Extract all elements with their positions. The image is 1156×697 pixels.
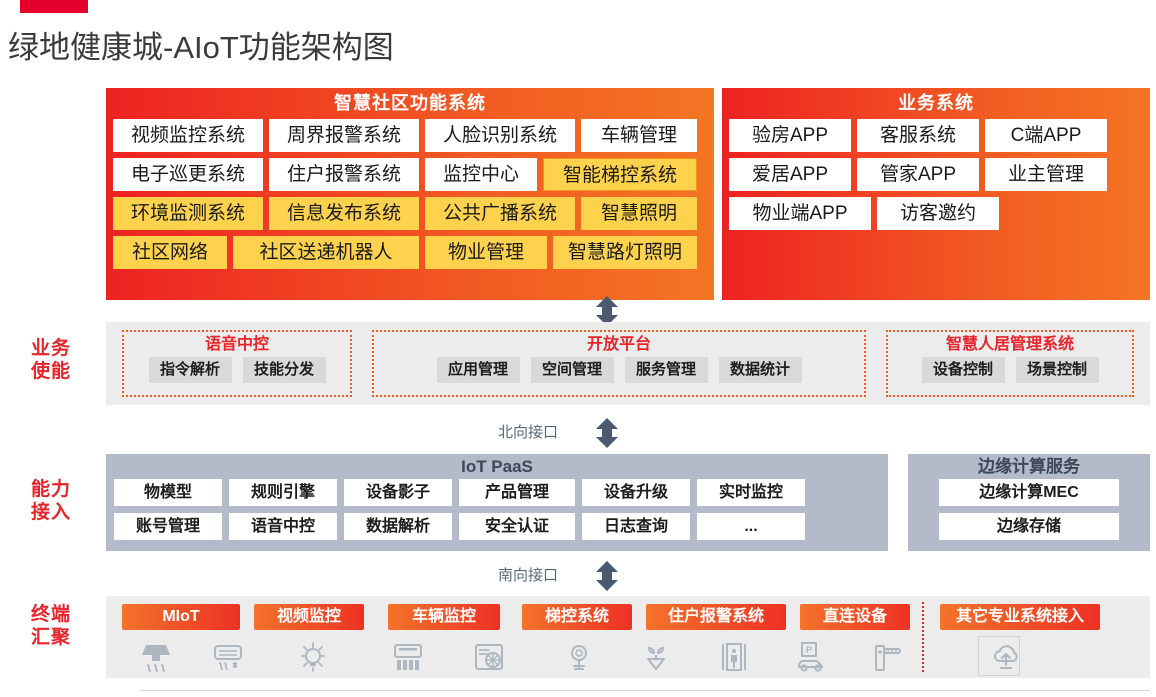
architecture-diagram: 绿地健康城-AIoT功能架构图 智慧社区功能系统 视频监控系统周界报警系统人脸识… [0,0,1156,697]
enablement-item[interactable]: 应用管理 [437,357,520,383]
terminal-group-chip[interactable]: MIoT [122,604,240,630]
enablement-item[interactable]: 数据统计 [719,357,802,383]
smart-community-item[interactable]: 智慧路灯照明 [553,236,697,269]
page-title: 绿地健康城-AIoT功能架构图 [8,22,394,67]
terminal-layer-label: 终端 汇聚 [22,603,80,649]
enablement-group-items: 设备控制场景控制 [912,357,1109,390]
iot-paas-item[interactable]: 设备升级 [582,479,690,506]
iot-paas-item[interactable]: ... [697,513,805,540]
air-conditioner-icon [212,641,244,673]
arrow-south-interface [594,561,620,591]
iot-paas-item[interactable]: 日志查询 [582,513,690,540]
svg-text:P: P [806,645,812,655]
enablement-layer-label: 业务 使能 [22,337,80,383]
smart-community-item[interactable]: 电子巡更系统 [113,158,263,191]
parking-car-icon: P [795,641,827,673]
top-red-marker [20,0,88,13]
capability-label-line2: 接入 [22,501,80,524]
edge-computing-item[interactable]: 边缘存储 [939,513,1119,540]
business-system-title: 业务系统 [722,88,1150,119]
cloud-upload-icon-frame [978,636,1020,676]
enablement-item[interactable]: 空间管理 [531,357,614,383]
smart-community-item[interactable]: 周界报警系统 [269,119,419,152]
enablement-item[interactable]: 技能分发 [243,357,326,383]
enablement-band: 语音中控指令解析技能分发开放平台应用管理空间管理服务管理数据统计智慧人居管理系统… [106,322,1150,405]
iot-paas-item[interactable]: 产品管理 [459,479,575,506]
edge-computing-row: 边缘计算MEC [908,479,1150,513]
smart-community-item[interactable]: 物业管理 [425,236,547,269]
business-system-item[interactable]: 爱居APP [729,158,851,191]
smart-community-item[interactable]: 环境监测系统 [113,197,263,230]
smart-community-item[interactable]: 车辆管理 [581,119,697,152]
enablement-group-items: 指令解析技能分发 [139,357,336,390]
business-system-rows: 验房APP客服系统C端APP爱居APP管家APP业主管理物业端APP访客邀约 [722,119,1150,243]
iot-paas-title: IoT PaaS [106,454,888,479]
business-system-item[interactable]: C端APP [985,119,1107,152]
iot-paas-item[interactable]: 语音中控 [229,513,337,540]
smart-community-panel: 智慧社区功能系统 视频监控系统周界报警系统人脸识别系统车辆管理电子巡更系统住户报… [106,88,714,300]
smart-community-item[interactable]: 信息发布系统 [269,197,419,230]
edge-computing-title: 边缘计算服务 [908,454,1150,479]
business-system-item[interactable]: 访客邀约 [877,197,999,230]
iot-paas-item[interactable]: 账号管理 [114,513,222,540]
enablement-group-title: 智慧人居管理系统 [946,332,1074,357]
business-system-panel: 业务系统 验房APP客服系统C端APP爱居APP管家APP业主管理物业端APP访… [722,88,1150,300]
business-system-row: 物业端APP访客邀约 [729,197,1143,230]
north-interface-label: 北向接口 [498,421,558,442]
enablement-group-title: 开放平台 [587,332,651,357]
smart-community-item[interactable]: 视频监控系统 [113,119,263,152]
smart-community-item[interactable]: 人脸识别系统 [425,119,575,152]
iot-paas-item[interactable]: 实时监控 [697,479,805,506]
smart-community-row: 环境监测系统信息发布系统公共广播系统智慧照明 [113,197,707,230]
smart-lamp-icon [563,641,595,673]
smart-community-item[interactable]: 住户报警系统 [269,158,419,191]
smart-community-row: 社区网络社区送递机器人物业管理智慧路灯照明 [113,236,707,269]
edge-computing-rows: 边缘计算MEC边缘存储 [908,479,1150,547]
business-system-item[interactable]: 物业端APP [729,197,871,230]
capability-label-line1: 能力 [22,478,80,501]
terminal-group-chip[interactable]: 车辆监控 [388,604,500,630]
smart-community-row: 视频监控系统周界报警系统人脸识别系统车辆管理 [113,119,707,152]
iot-paas-row: 账号管理语音中控数据解析安全认证日志查询... [106,513,888,547]
smart-community-item[interactable]: 智能梯控系统 [543,158,697,191]
iot-paas-item[interactable]: 规则引擎 [229,479,337,506]
light-bulb-icon [297,641,329,673]
enablement-item[interactable]: 场景控制 [1016,357,1099,383]
terminal-divider [922,602,924,672]
business-system-row: 爱居APP管家APP业主管理 [729,158,1143,191]
smoke-sensor-icon [640,641,672,673]
gate-barrier-icon [872,641,904,673]
smart-community-item[interactable]: 智慧照明 [581,197,697,230]
smart-community-item[interactable]: 社区网络 [113,236,227,269]
iot-paas-row: 物模型规则引擎设备影子产品管理设备升级实时监控 [106,479,888,513]
arrow-north-interface [594,418,620,448]
capability-layer-label: 能力 接入 [22,478,80,524]
iot-paas-item[interactable]: 安全认证 [459,513,575,540]
edge-computing-band: 边缘计算服务 边缘计算MEC边缘存储 [908,454,1150,551]
enablement-item[interactable]: 服务管理 [625,357,708,383]
terminal-group-chip[interactable]: 住户报警系统 [646,604,786,630]
business-system-row: 验房APP客服系统C端APP [729,119,1143,152]
terminal-group-chip[interactable]: 梯控系统 [522,604,632,630]
iot-paas-item[interactable]: 设备影子 [344,479,452,506]
enablement-group: 智慧人居管理系统设备控制场景控制 [886,330,1134,397]
enablement-label-line1: 业务 [22,337,80,360]
enablement-group-title: 语音中控 [205,332,269,357]
terminal-group-chip[interactable]: 其它专业系统接入 [940,604,1100,630]
bottom-divider [140,690,1150,691]
enablement-group-items: 应用管理空间管理服务管理数据统计 [427,357,812,390]
enablement-group: 语音中控指令解析技能分发 [122,330,352,397]
smart-community-row: 电子巡更系统住户报警系统监控中心智能梯控系统 [113,158,707,191]
terminal-label-line2: 汇聚 [22,626,80,649]
enablement-label-line2: 使能 [22,360,80,383]
smart-community-item[interactable]: 监控中心 [425,158,537,191]
business-system-item[interactable]: 业主管理 [985,158,1107,191]
iot-paas-item[interactable]: 数据解析 [344,513,452,540]
terminal-group-chip[interactable]: 直连设备 [800,604,910,630]
business-system-item[interactable]: 管家APP [857,158,979,191]
enablement-item[interactable]: 指令解析 [149,357,232,383]
terminal-label-line1: 终端 [22,603,80,626]
business-system-item[interactable]: 验房APP [729,119,851,152]
air-purifier-icon [392,641,424,673]
enablement-group: 开放平台应用管理空间管理服务管理数据统计 [372,330,866,397]
business-system-item[interactable]: 客服系统 [857,119,979,152]
south-interface-label: 南向接口 [498,564,558,585]
smart-community-item[interactable]: 社区送递机器人 [233,236,419,269]
iot-paas-item[interactable]: 物模型 [114,479,222,506]
ac-outdoor-unit-icon [473,641,505,673]
iot-paas-band: IoT PaaS 物模型规则引擎设备影子产品管理设备升级实时监控账号管理语音中控… [106,454,888,551]
edge-computing-item[interactable]: 边缘计算MEC [939,479,1119,506]
iot-paas-rows: 物模型规则引擎设备影子产品管理设备升级实时监控账号管理语音中控数据解析安全认证日… [106,479,888,547]
smart-community-title: 智慧社区功能系统 [106,88,714,119]
edge-computing-row: 边缘存储 [908,513,1150,547]
smart-community-item[interactable]: 公共广播系统 [425,197,575,230]
elevator-icon [718,641,750,673]
smart-community-rows: 视频监控系统周界报警系统人脸识别系统车辆管理电子巡更系统住户报警系统监控中心智能… [106,119,714,282]
enablement-item[interactable]: 设备控制 [922,357,1005,383]
terminal-group-chip[interactable]: 视频监控 [254,604,364,630]
range-hood-icon [140,641,172,673]
